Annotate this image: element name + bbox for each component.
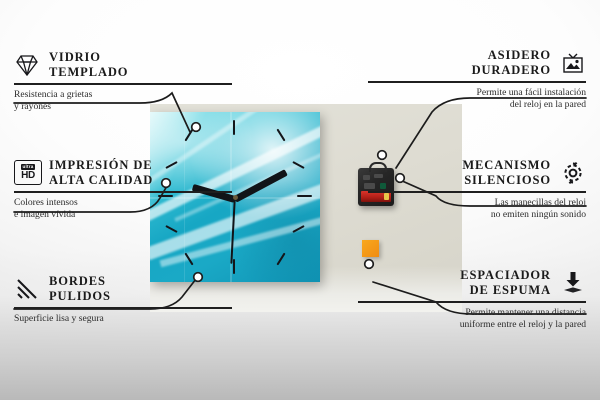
feature-title-line2: SILENCIOSO (462, 173, 551, 188)
feature-desc-line1: Permite mantener una distancia (358, 307, 586, 319)
feature-divider (368, 81, 586, 83)
feature-bordes-pulidos: BORDES PULIDOS Superficie lisa y segura (14, 274, 232, 325)
clock-tick (297, 195, 312, 197)
feature-desc-line1: Colores intensos (14, 197, 232, 209)
feature-desc-line1: Superficie lisa y segura (14, 313, 232, 325)
feature-title-line1: ESPACIADOR (460, 268, 551, 283)
feature-vidrio-templado: VIDRIO TEMPLADO Resistencia a grietas y … (14, 50, 232, 113)
feature-asidero-duradero: ASIDERO DURADERO Permite una fácil insta… (368, 48, 586, 111)
foam-spacer-arrow-icon (560, 270, 586, 296)
feature-desc-line2: uniforme entre el reloj y la pared (358, 319, 586, 331)
feature-title-line1: MECANISMO (462, 158, 551, 173)
clock-center-hub (233, 195, 238, 200)
foam-spacer (362, 240, 379, 257)
feature-title-line2: PULIDOS (49, 289, 111, 304)
feature-title-line1: BORDES (49, 274, 111, 289)
feature-title-line1: ASIDERO (472, 48, 551, 63)
ultra-hd-icon: ultra HD (14, 160, 40, 186)
feature-desc-line2: y rayones (14, 101, 232, 113)
gear-icon (560, 160, 586, 186)
feature-title-line1: VIDRIO (49, 50, 128, 65)
feature-title-line2: TEMPLADO (49, 65, 128, 80)
feature-divider (14, 191, 232, 193)
polished-edges-icon (14, 276, 40, 302)
feature-title-line2: ALTA CALIDAD (49, 173, 153, 188)
feature-title-line2: DURADERO (472, 63, 551, 78)
feature-desc-line1: Resistencia a grietas (14, 89, 232, 101)
feature-impresion-alta-calidad: ultra HD IMPRESIÓN DE ALTA CALIDAD Color… (14, 158, 232, 221)
feature-divider (14, 307, 232, 309)
feature-title-line1: IMPRESIÓN DE (49, 158, 153, 173)
feature-desc-line2: e imagen vívida (14, 209, 232, 221)
picture-hanger-icon (560, 50, 586, 76)
feature-desc-line2: no emiten ningún sonido (368, 209, 586, 221)
diamond-icon (14, 52, 40, 78)
feature-mecanismo-silencioso: MECANISMO SILENCIOSO Las manecillas del … (368, 158, 586, 221)
ultra-hd-icon-main: HD (21, 171, 35, 181)
feature-desc-line1: Las manecillas del reloj (368, 197, 586, 209)
feature-desc-line2: del reloj en la pared (368, 99, 586, 111)
feature-desc-line1: Permite una fácil instalación (368, 87, 586, 99)
feature-divider (368, 191, 586, 193)
feature-divider (358, 301, 586, 303)
feature-divider (14, 83, 232, 85)
feature-espaciador-de-espuma: ESPACIADOR DE ESPUMA Permite mantener un… (358, 268, 586, 331)
clock-tick (233, 120, 235, 135)
clock-tick (233, 259, 235, 274)
infographic-canvas: VIDRIO TEMPLADO Resistencia a grietas y … (0, 0, 600, 400)
feature-title-line2: DE ESPUMA (460, 283, 551, 298)
